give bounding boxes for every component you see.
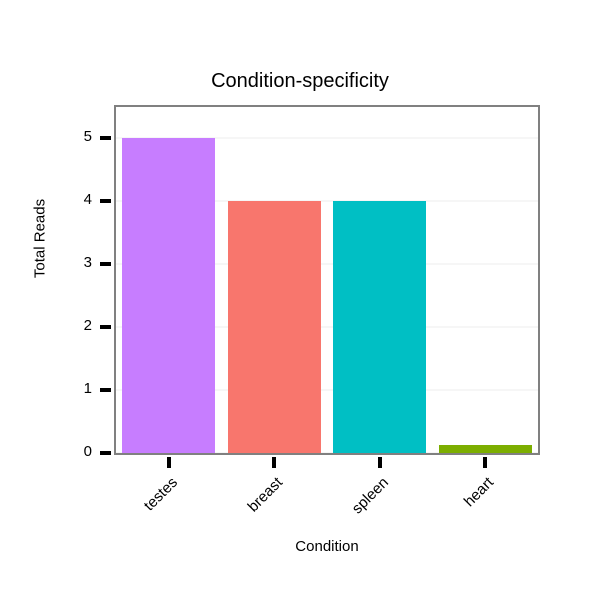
bar-heart	[439, 445, 532, 453]
y-axis-title: Total Reads	[32, 159, 49, 319]
x-tick-mark	[378, 457, 382, 468]
y-tick-mark	[100, 262, 111, 266]
y-tick-mark	[100, 325, 111, 329]
y-tick-mark	[100, 388, 111, 392]
y-tick-label: 0	[0, 443, 92, 460]
x-axis-title: Condition	[114, 538, 540, 555]
y-tick-mark	[100, 451, 111, 455]
y-tick-label: 5	[0, 128, 92, 145]
x-tick-mark	[483, 457, 487, 468]
y-tick-label: 3	[0, 254, 92, 271]
x-tick-mark	[272, 457, 276, 468]
x-tick-mark	[167, 457, 171, 468]
chart-container: Condition-specificity Total Reads 012345…	[0, 0, 600, 600]
y-tick-mark	[100, 136, 111, 140]
y-tick-label: 2	[0, 317, 92, 334]
plot-panel	[114, 105, 540, 455]
x-tick-label-testes: testes	[27, 474, 180, 600]
bar-breast	[228, 201, 321, 453]
bar-testes	[122, 138, 215, 453]
y-tick-label: 1	[0, 380, 92, 397]
chart-title: Condition-specificity	[0, 70, 600, 93]
bar-spleen	[333, 201, 426, 453]
y-tick-label: 4	[0, 191, 92, 208]
y-tick-mark	[100, 199, 111, 203]
